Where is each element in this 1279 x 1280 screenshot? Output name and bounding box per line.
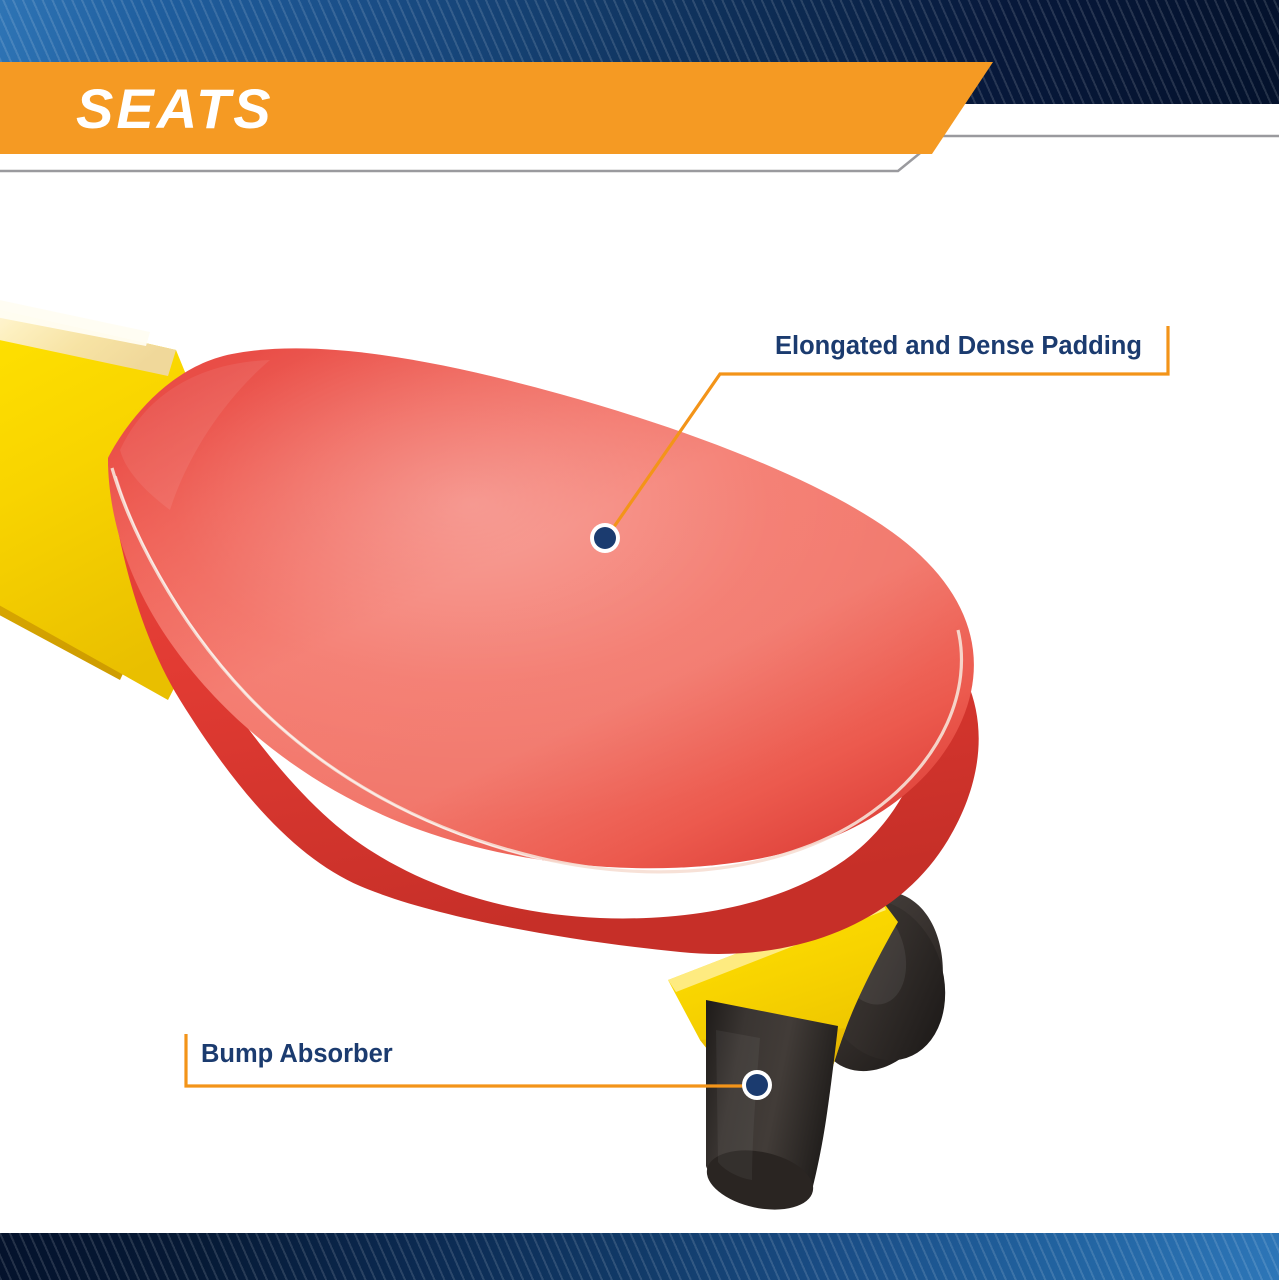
infographic-page: SEATS <box>0 0 1279 1280</box>
callout-label-bump-absorber: Bump Absorber <box>201 1040 393 1069</box>
page-title: SEATS <box>76 66 274 152</box>
callout-label-elongated-dense-padding: Elongated and Dense Padding <box>775 332 1142 361</box>
seat-cushion <box>108 348 979 954</box>
bump-absorber-front <box>701 1000 838 1219</box>
bottom-banner <box>0 1233 1279 1280</box>
seat-top-sheen <box>108 348 974 868</box>
